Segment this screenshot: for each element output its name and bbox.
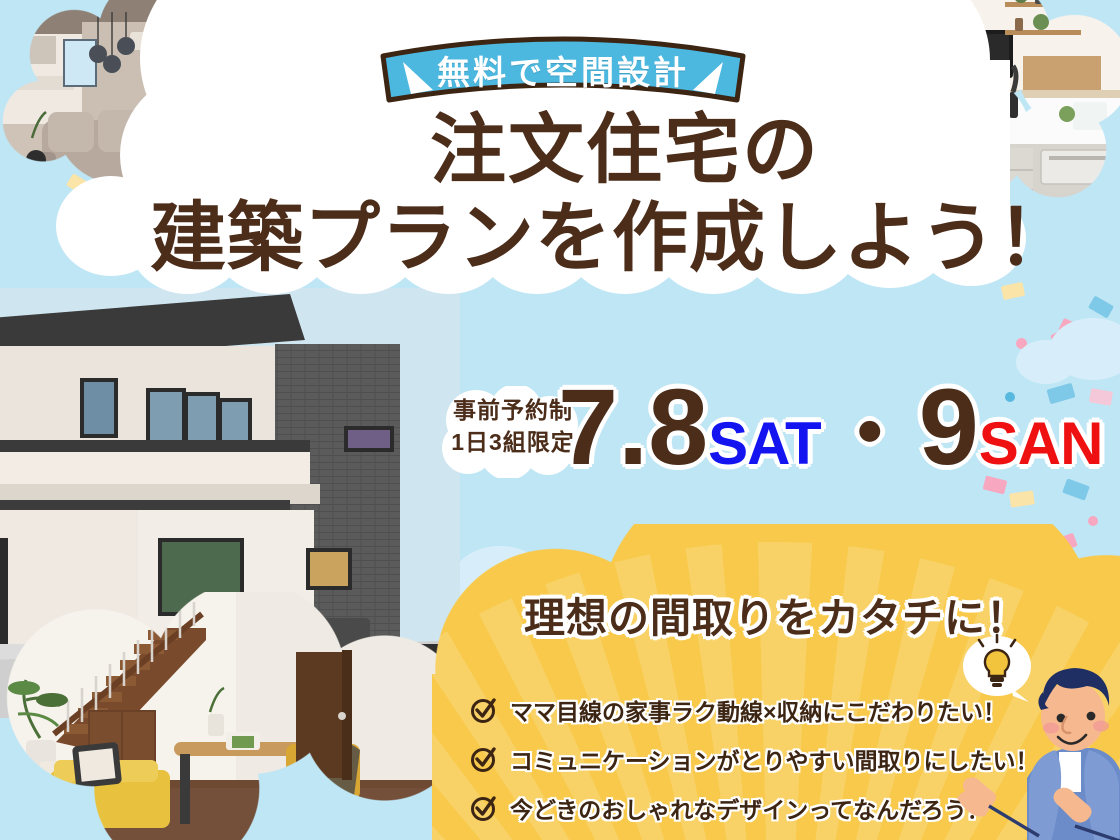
list-item-label: ママ目線の家事ラク動線×収納にこだわりたい！ — [510, 693, 1006, 727]
date-separator: ・ — [821, 387, 919, 483]
check-circle-icon — [470, 745, 498, 773]
headline-line-1: 注文住宅の — [150, 108, 990, 194]
check-circle-icon — [470, 794, 498, 822]
promo-bullet-list: ママ目線の家事ラク動線×収納にこだわりたい！ コミュニケーションがとりやすい間取… — [470, 689, 990, 836]
list-item: 今どきのおしゃれなデザインってなんだろう？ — [470, 787, 990, 828]
list-item-label: 今どきのおしゃれなデザインってなんだろう？ — [510, 791, 990, 825]
date-2-number: 9 — [919, 366, 979, 487]
event-dates: 7.8SAT・9SAN — [558, 364, 1102, 489]
headline: 注文住宅の 建築プランを作成しよう！ — [150, 108, 990, 284]
pointing-man-illustration — [955, 630, 1120, 840]
event-date-row: 事前予約制 1日3組限定 7.8SAT・9SAN — [430, 372, 1120, 492]
interior-stairs-photo — [0, 592, 448, 840]
promo-banner: 無料で空間設計 注文住宅の 建築プランを作成しよう！ 事前予約制 1日3組限定 … — [0, 0, 1120, 840]
ribbon-badge: 無料で空間設計 — [377, 36, 749, 108]
date-2-day: SAN — [979, 410, 1103, 477]
date-1-day: SAT — [708, 410, 821, 477]
check-circle-icon — [470, 696, 498, 724]
confetti-piece — [1009, 490, 1035, 507]
lightbulb-icon — [963, 635, 1031, 702]
ribbon-label: 無料で空間設計 — [377, 36, 749, 108]
headline-line-2: 建築プランを作成しよう！ — [150, 194, 990, 284]
confetti-piece — [1001, 282, 1025, 300]
list-item: コミュニケーションがとりやすい間取りにしたい！ — [470, 738, 990, 779]
confetti-piece — [1088, 295, 1114, 318]
date-1-number: 7.8 — [558, 366, 708, 487]
pointing-hand — [957, 777, 996, 816]
list-item: ママ目線の家事ラク動線×収納にこだわりたい！ — [470, 689, 990, 730]
